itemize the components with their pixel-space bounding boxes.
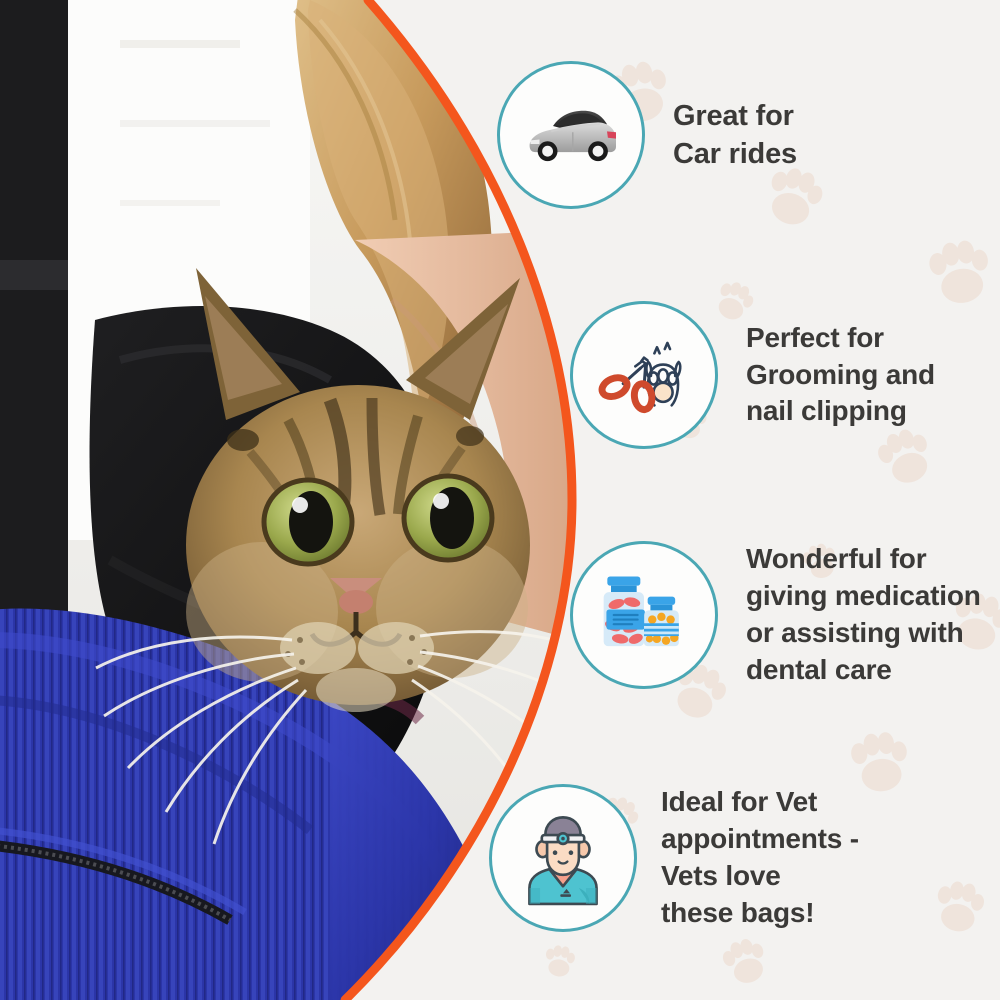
feature-row-medication: Wonderful for giving medication or assis… <box>570 541 981 689</box>
feature-row-vet: Ideal for Vet appointments - Vets love t… <box>489 784 859 932</box>
feature-icon-circle <box>489 784 637 932</box>
feature-label: Wonderful for giving medication or assis… <box>746 541 981 689</box>
infographic-canvas: Great for Car rides <box>0 0 1000 1000</box>
feature-icon-circle <box>570 301 718 449</box>
feature-icon-circle <box>497 61 645 209</box>
nail-clipper-paw-icon <box>592 323 696 427</box>
medicine-bottles-icon <box>589 560 699 670</box>
veterinarian-icon <box>510 805 616 911</box>
feature-label: Ideal for Vet appointments - Vets love t… <box>661 784 859 932</box>
feature-label: Perfect for Grooming and nail clipping <box>746 320 935 431</box>
feature-icon-circle <box>570 541 718 689</box>
feature-row-grooming: Perfect for Grooming and nail clipping <box>570 301 935 449</box>
car-icon <box>517 81 625 189</box>
feature-row-car-rides: Great for Car rides <box>497 61 797 209</box>
feature-label: Great for Car rides <box>673 97 797 174</box>
